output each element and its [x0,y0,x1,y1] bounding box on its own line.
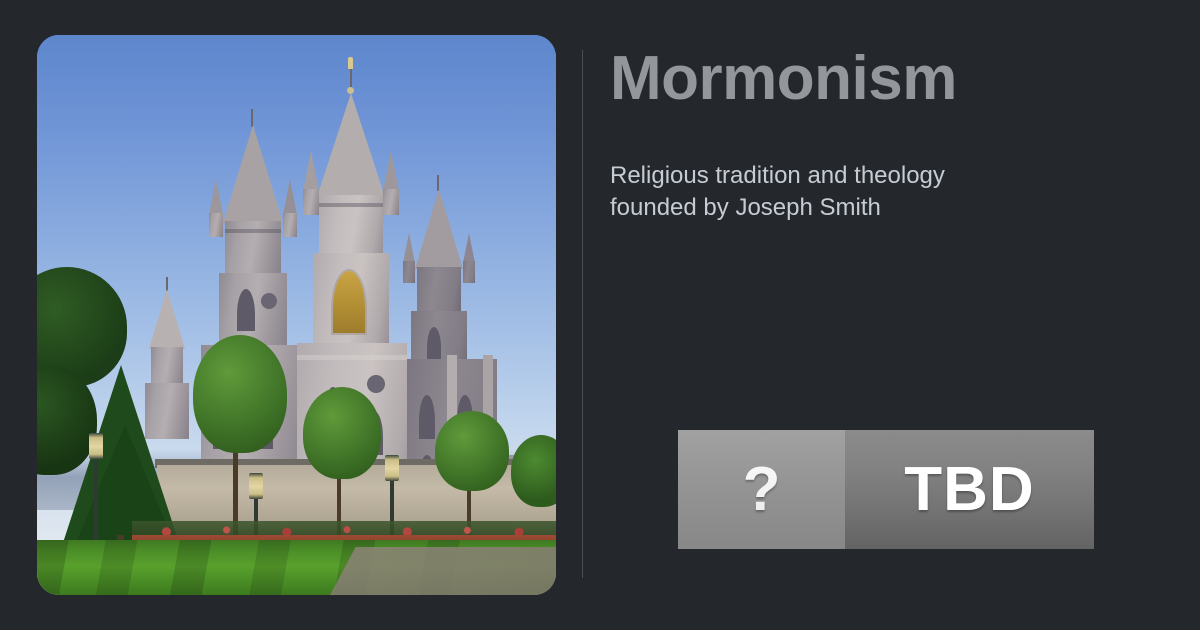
status-badge-value: TBD [904,459,1034,521]
moroni-statue [348,57,353,69]
text-pane: Mormonism Religious tradition and theolo… [610,0,1170,630]
pinnacle-west-1 [209,179,223,215]
pinnacle-west-2 [283,179,297,215]
deciduous-tree-far-right [435,411,509,491]
pinnacle-west-2-base [283,213,297,237]
pinnacle-east-1 [403,233,415,263]
deciduous-tree-right [303,387,381,479]
pinnacle-left-1 [303,151,319,191]
west-spire [223,125,283,223]
central-pier-oculus [367,375,385,393]
deciduous-tree-center [193,335,287,453]
status-badge-label-section: ? [678,430,845,549]
east-small-belfry [417,267,461,313]
pinnacle-west-1-base [209,213,223,237]
central-belfry-band [319,203,383,207]
central-pier-band [297,355,407,360]
far-left-spire [149,289,185,349]
pinnacle-east-1-base [403,261,415,283]
lamp-pole-left [94,459,98,549]
page-subtitle: Religious tradition and theology founded… [610,160,990,224]
central-spire [317,93,385,197]
pinnacle-east-2-base [463,261,475,283]
east-wall-window-1 [419,395,435,439]
east-small-window [427,327,441,361]
pinnacle-left-1-base [303,189,319,215]
photo-canvas [37,35,556,595]
lamp-head-right [385,455,399,481]
vertical-divider [582,50,583,578]
preview-card: Mormonism Religious tradition and theolo… [0,0,1200,630]
west-belfry-band [225,229,281,233]
salt-lake-temple-photo [37,35,556,595]
walkway-path [318,547,556,595]
lamp-head-left [89,433,103,459]
west-oculus [261,293,277,309]
lamp-head-center [249,473,263,499]
pinnacle-right-1-base [383,189,399,215]
pinnacle-east-2 [463,233,475,263]
west-tower-window [237,289,255,331]
east-small-spire [415,189,463,269]
pinnacle-right-1 [383,151,399,191]
question-mark-icon: ? [743,459,781,521]
status-badge-value-section: TBD [845,430,1094,549]
central-finial-rod [350,69,352,89]
status-badge[interactable]: ? TBD [678,430,1094,549]
page-title: Mormonism [610,46,957,111]
